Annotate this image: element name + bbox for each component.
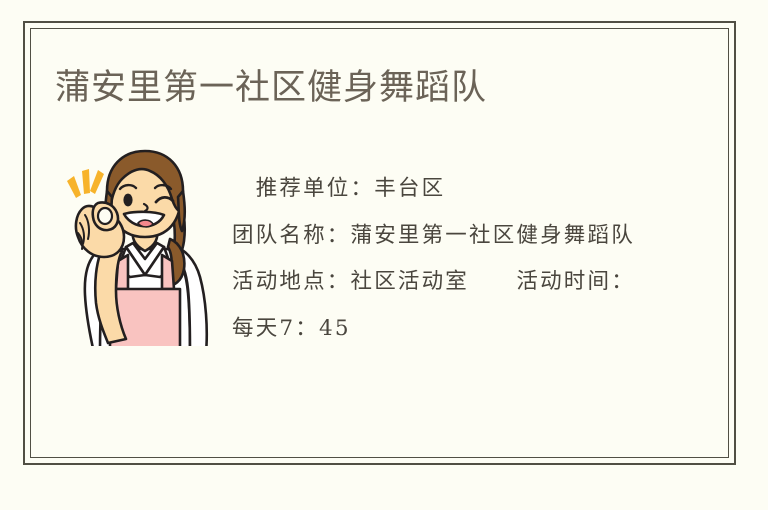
team-details-text: 推荐单位：丰台区 团队名称：蒲安里第一社区健身舞蹈队 活动地点：社区活动室 活动… — [232, 166, 644, 352]
cartoon-woman-ok-gesture-illustration — [58, 143, 218, 346]
sparkle-icon — [67, 169, 104, 198]
illustration-svg — [58, 143, 218, 346]
page-title: 蒲安里第一社区健身舞蹈队 — [55, 66, 487, 110]
page-root: 蒲安里第一社区健身舞蹈队 — [0, 0, 768, 510]
